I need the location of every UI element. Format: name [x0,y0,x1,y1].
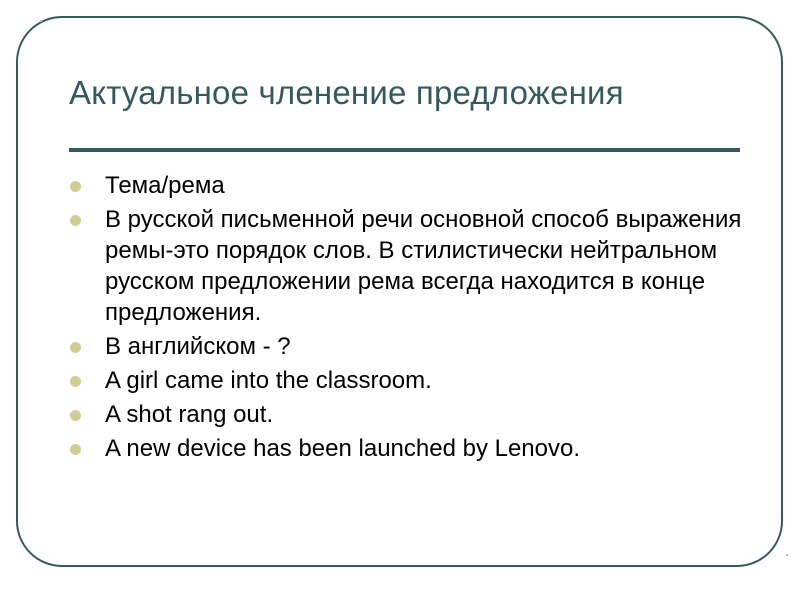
bullet-dot-icon [70,342,81,353]
slide-title: Актуальное членение предложения [69,71,729,114]
list-item: A shot rang out. [70,399,760,430]
title-underline-rule [69,148,740,152]
bullet-dot-icon [70,410,81,421]
list-item-label: Тема/рема [105,170,760,201]
list-item: В английском - ? [70,331,760,362]
list-item: В русской письменной речи основной спосо… [70,204,760,328]
list-item: Тема/рема [70,170,760,201]
list-item-label: В английском - ? [105,331,760,362]
scan-speck-top-left [40,20,42,22]
bullet-dot-icon [70,376,81,387]
bullet-dot-icon [70,444,81,455]
list-item: A girl came into the classroom. [70,365,760,396]
slide-canvas: Актуальное членение предложения Тема/рем… [0,0,800,600]
bullet-dot-icon [70,215,81,226]
list-item-label: A new device has been launched by Lenovo… [105,433,760,464]
scan-speck-bottom-right [786,554,788,556]
list-item-label: A shot rang out. [105,399,760,430]
bullet-list: Тема/рема В русской письменной речи осно… [70,170,760,467]
list-item: A new device has been launched by Lenovo… [70,433,760,464]
bullet-dot-icon [70,181,81,192]
list-item-label: A girl came into the classroom. [105,365,760,396]
list-item-label: В русской письменной речи основной спосо… [105,204,760,328]
